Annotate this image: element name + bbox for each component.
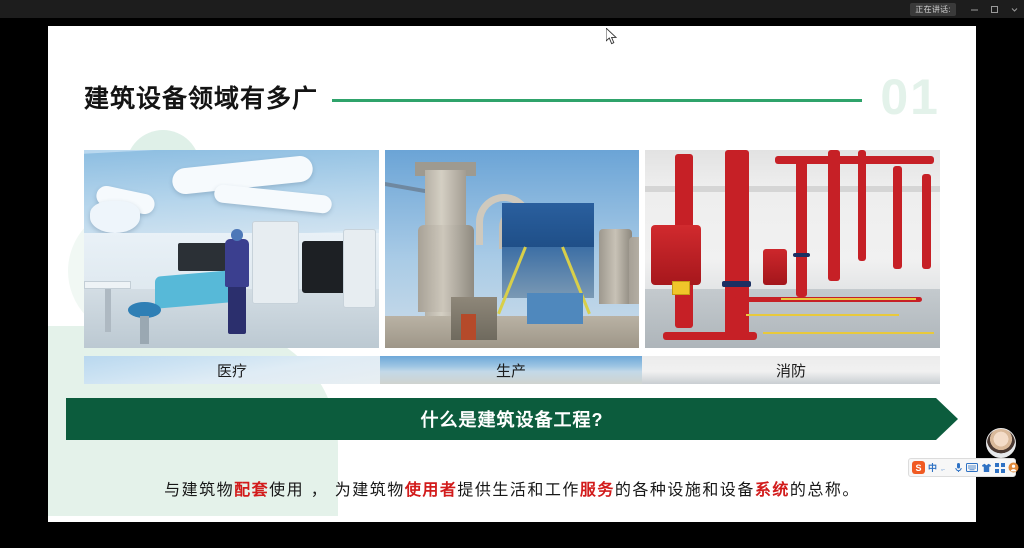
photo-medical	[84, 150, 379, 348]
caption-production: 生产	[380, 356, 642, 384]
maximize-button[interactable]	[984, 0, 1004, 18]
mouse-cursor	[606, 28, 618, 50]
ime-toolbar[interactable]: S 中 ,.	[908, 458, 1016, 477]
comma-period-icon[interactable]: ,.	[940, 460, 951, 475]
section-banner: 什么是建筑设备工程?	[66, 398, 958, 440]
photo-captions: 医疗 生产 消防	[84, 356, 940, 384]
photo-production	[385, 150, 640, 348]
photo-strip	[84, 150, 940, 348]
definition-run: 的总称。	[790, 476, 860, 500]
definition-text: 与建筑物配套使用 ， 为建筑物使用者提供生活和工作服务的各种设施和设备系统的总称…	[66, 466, 958, 510]
definition-run: 提供生活和工作	[457, 476, 580, 500]
svg-text:,.: ,.	[941, 465, 945, 472]
speaking-status-chip: 正在讲话:	[910, 3, 956, 16]
definition-run: 的各种设施和设备	[615, 476, 755, 500]
ime-mode-toggle[interactable]: 中	[928, 460, 937, 475]
participant-avatar[interactable]	[986, 428, 1016, 458]
page-title: 建筑设备领域有多广	[84, 79, 318, 115]
photo-fire	[645, 150, 940, 348]
grid-icon[interactable]	[995, 460, 1005, 475]
window-titlebar: 正在讲话:	[0, 0, 1024, 18]
microphone-icon[interactable]	[954, 460, 963, 475]
definition-run: 使用 ， 为建筑物	[269, 476, 405, 500]
chevron-down-icon[interactable]	[1004, 0, 1024, 18]
keyboard-icon[interactable]	[966, 460, 978, 475]
definition-run: 与建筑物	[164, 476, 234, 500]
minimize-button[interactable]	[964, 0, 984, 18]
caption-fire: 消防	[642, 356, 940, 384]
avatar	[986, 428, 1016, 458]
sogou-logo-icon[interactable]: S	[912, 460, 925, 475]
slide-number: 01	[880, 72, 940, 122]
speaking-status-label: 正在讲话:	[915, 3, 951, 16]
definition-highlight: 服务	[580, 476, 615, 500]
meeting-window: 正在讲话: 建筑设备领域有多广 01	[0, 0, 1024, 548]
slide-canvas: 建筑设备领域有多广 01	[48, 26, 976, 522]
slide-title-row: 建筑设备领域有多广 01	[84, 70, 940, 124]
shirt-icon[interactable]	[981, 460, 992, 475]
definition-highlight: 系统	[755, 476, 790, 500]
definition-highlight: 使用者	[405, 476, 458, 500]
caption-medical: 医疗	[84, 356, 380, 384]
user-circle-icon[interactable]	[1008, 460, 1019, 475]
banner-label: 什么是建筑设备工程?	[421, 406, 604, 432]
title-divider	[332, 99, 862, 102]
definition-highlight: 配套	[234, 476, 269, 500]
